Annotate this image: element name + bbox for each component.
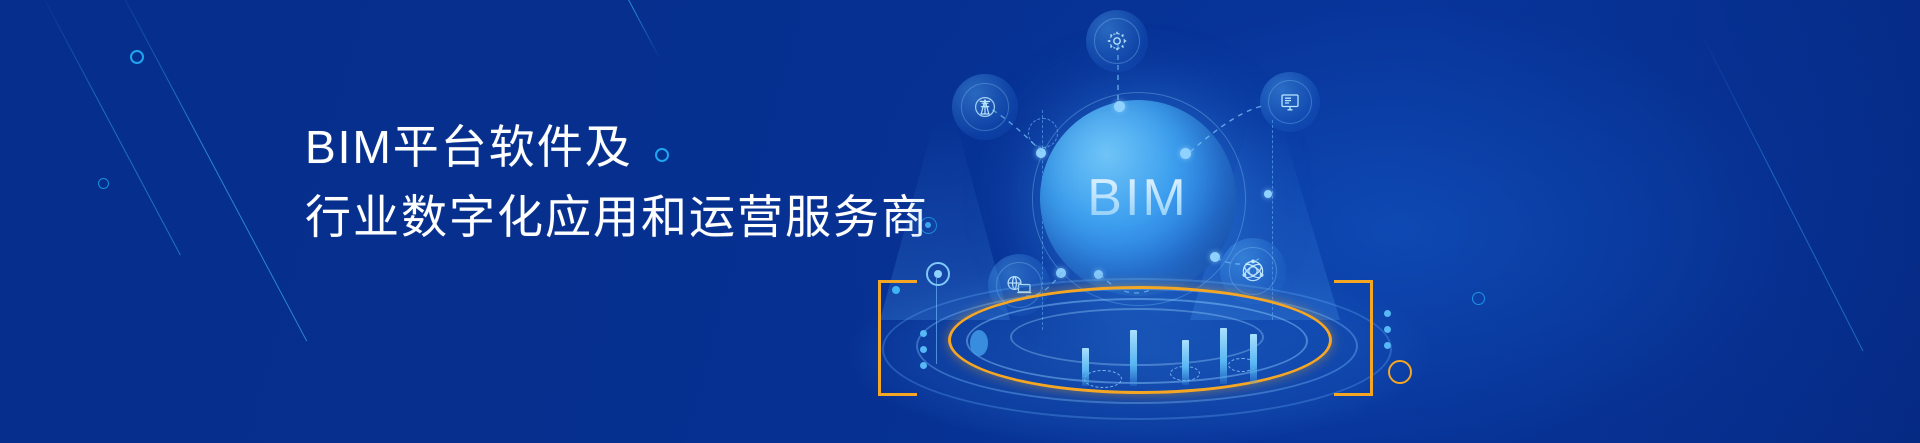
data-bar-2: [1182, 340, 1189, 385]
data-bar-6: [1250, 334, 1257, 384]
bracket-left: [878, 280, 917, 396]
platform-marker-1: [1084, 370, 1122, 388]
data-bar-5: [1220, 328, 1227, 384]
diagonal-line-endpoint-ring-1: [130, 50, 144, 64]
platform-orange-ring-dot: [1388, 360, 1412, 384]
platform-pin-head: [926, 262, 950, 286]
platform-pin-stem: [936, 278, 937, 364]
node-gear-ring: [1094, 18, 1140, 64]
headline-line-1: BIM平台软件及: [305, 112, 929, 182]
data-bar-4: [1082, 348, 1089, 386]
page-title: BIM平台软件及 行业数字化应用和运营服务商: [305, 112, 929, 252]
bim-illustration: BIM: [860, 0, 1420, 443]
diagonal-line-4: [1699, 30, 1863, 351]
node-monitor-ring: [1268, 80, 1312, 124]
headline-line-2: 行业数字化应用和运营服务商: [305, 182, 929, 252]
node-gear[interactable]: [1086, 10, 1148, 72]
data-bar-3: [1130, 330, 1137, 386]
diagonal-line-3: [599, 0, 661, 60]
bracket-right: [1334, 280, 1373, 396]
diagonal-line-1: [39, 0, 181, 255]
platform-ring-orange: [948, 286, 1332, 394]
diagonal-line-endpoint-ring-2: [98, 178, 109, 189]
diagonal-line-endpoint-ring-4: [1472, 292, 1485, 305]
node-power-tower-ring: [961, 83, 1009, 131]
platform-blob-left: [970, 330, 988, 356]
bim-banner: BIM平台软件及 行业数字化应用和运营服务商 BIM: [0, 0, 1920, 443]
node-power-tower[interactable]: [952, 74, 1018, 140]
node-monitor[interactable]: [1260, 72, 1320, 132]
